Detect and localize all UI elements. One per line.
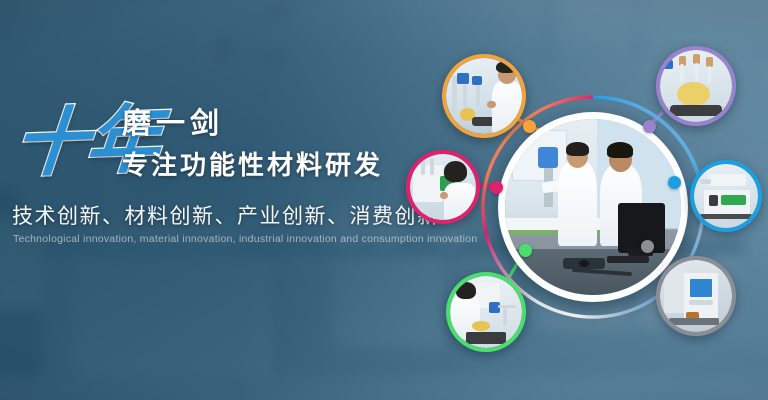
photo-right-scene xyxy=(694,164,758,228)
headline-block: 十年 磨一剑 专注功能性材料研发 技术创新、材料创新、产业创新、消费创新 Tec… xyxy=(0,0,420,400)
stand-rod xyxy=(503,308,507,327)
headline-line-1: 磨一剑 xyxy=(122,108,224,140)
researcher-labcoat xyxy=(492,81,522,134)
glass-column xyxy=(476,85,480,106)
scientist-1-hair xyxy=(566,142,589,156)
control-panel xyxy=(721,195,747,205)
keyboard xyxy=(607,256,649,263)
glass-column xyxy=(463,85,467,108)
instrument-arm xyxy=(430,158,434,175)
blue-valve xyxy=(457,73,469,84)
technician-labcoat xyxy=(444,183,476,220)
photo-circle-bottom-left[interactable] xyxy=(446,272,526,352)
flask-neck xyxy=(695,63,699,83)
connector-dot-bottom-right xyxy=(641,240,654,253)
connector-dot-right xyxy=(668,176,681,189)
researcher-hair xyxy=(496,61,517,73)
display-screen xyxy=(690,279,712,298)
photo-bottom-left-scene xyxy=(450,276,522,348)
promo-banner: 十年 磨一剑 专注功能性材料研发 技术创新、材料创新、产业创新、消费创新 Tec… xyxy=(0,0,768,400)
photo-top-right-scene xyxy=(660,50,732,122)
scientist-2-hair xyxy=(607,142,633,158)
photo-circle-cluster xyxy=(398,28,768,388)
photo-left-scene xyxy=(410,154,476,220)
hood-base xyxy=(466,332,506,344)
instrument-body xyxy=(413,165,443,202)
mouse xyxy=(579,260,590,267)
blue-valve xyxy=(472,76,483,85)
headline-group: 十年 磨一剑 专注功能性材料研发 xyxy=(14,104,406,200)
stirrer-plate xyxy=(670,105,722,117)
photo-circle-bottom-right[interactable] xyxy=(656,256,736,336)
flask-neck xyxy=(708,66,712,83)
blue-clamp xyxy=(661,60,673,69)
researcher-hand xyxy=(487,101,496,109)
machine-base xyxy=(669,318,719,325)
support-bar xyxy=(498,305,517,309)
connector-dot-left xyxy=(490,181,503,194)
subheadline-chinese: 技术创新、材料创新、产业创新、消费创新 xyxy=(12,204,440,230)
center-photo-scene xyxy=(505,119,681,295)
connector-dot-top-left xyxy=(523,120,536,133)
flask-neck xyxy=(680,64,684,83)
headline-line-2: 专注功能性材料研发 xyxy=(122,150,383,180)
photo-bottom-right-scene xyxy=(660,260,732,332)
technician-hand xyxy=(440,192,448,199)
control-strip xyxy=(689,300,713,304)
instrument-arm xyxy=(421,159,425,175)
photo-circle-top-right[interactable] xyxy=(656,46,736,126)
photo-circle-left[interactable] xyxy=(406,150,480,224)
scientist-1-labcoat xyxy=(558,161,597,245)
technician-hair xyxy=(444,161,466,182)
blue-equipment xyxy=(538,147,557,168)
side-module xyxy=(664,270,686,313)
machine-upper-arm xyxy=(708,174,746,186)
photo-circle-right[interactable] xyxy=(690,160,762,232)
machine-base xyxy=(700,214,751,219)
machine-knob xyxy=(700,179,710,184)
connector-dot-bottom-left xyxy=(519,244,532,257)
photo-circle-top-left[interactable] xyxy=(442,54,526,138)
photo-top-left-scene xyxy=(446,58,522,134)
machine-slot xyxy=(709,195,718,207)
researcher-hair xyxy=(456,282,476,299)
sample-material xyxy=(472,321,491,331)
connector-dot-top-right xyxy=(643,120,656,133)
